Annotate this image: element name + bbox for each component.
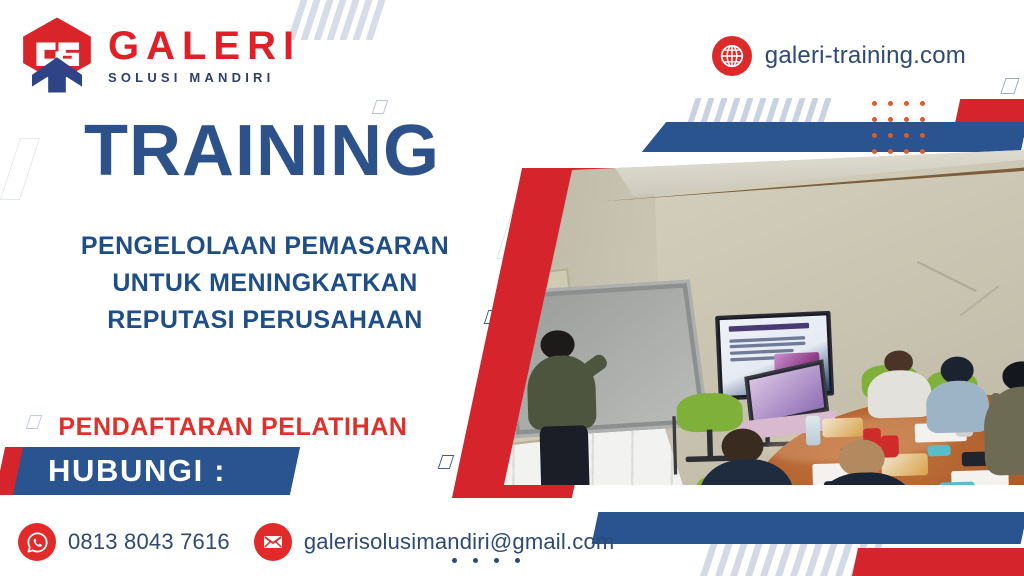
hexagon-gs-logo-icon xyxy=(20,16,94,94)
parallelogram-accent xyxy=(0,138,40,200)
subtitle-line-3: REPUTASI PERUSAHAAN xyxy=(0,302,530,339)
brand-logo: GALERI SOLUSI MANDIRI xyxy=(20,16,301,94)
diagonal-stripes-top xyxy=(288,0,388,40)
registration-heading: PENDAFTARAN PELATIHAN xyxy=(0,413,466,442)
contact-email[interactable]: galerisolusimandiri@gmail.com xyxy=(254,523,615,561)
contact-whatsapp[interactable]: 0813 8043 7616 xyxy=(18,523,230,561)
blue-bar-above-photo xyxy=(642,122,1024,152)
contact-banner-label: HUBUNGI : xyxy=(48,447,298,495)
whatsapp-icon xyxy=(18,523,56,561)
footer-dots-decoration xyxy=(452,558,520,563)
whatsapp-number[interactable]: 0813 8043 7616 xyxy=(68,529,230,555)
email-address[interactable]: galerisolusimandiri@gmail.com xyxy=(304,529,615,555)
website-block[interactable]: galeri-training.com xyxy=(712,36,966,76)
website-url[interactable]: galeri-training.com xyxy=(765,42,966,70)
email-icon xyxy=(254,523,292,561)
subtitle-line-1: PENGELOLAAN PEMASARAN xyxy=(0,228,530,265)
training-photo xyxy=(500,150,1024,485)
parallelogram-accent xyxy=(1000,78,1019,94)
brand-tagline: SOLUSI MANDIRI xyxy=(108,71,301,84)
globe-icon xyxy=(712,36,752,76)
dot-grid-decoration xyxy=(866,95,930,159)
red-bar-bottom xyxy=(852,548,1024,576)
subtitle-block: PENGELOLAAN PEMASARAN UNTUK MENINGKATKAN… xyxy=(0,228,530,339)
blue-bar-below-photo xyxy=(592,512,1024,544)
contact-list: 0813 8043 7616 galerisolusimandiri@gmail… xyxy=(18,523,614,561)
poster-canvas: GALERI SOLUSI MANDIRI galeri-training.co… xyxy=(0,0,1024,576)
brand-name: GALERI xyxy=(108,26,301,66)
page-title: TRAINING xyxy=(84,115,440,187)
parallelogram-accent xyxy=(438,455,455,469)
subtitle-line-2: UNTUK MENINGKATKAN xyxy=(0,265,530,302)
